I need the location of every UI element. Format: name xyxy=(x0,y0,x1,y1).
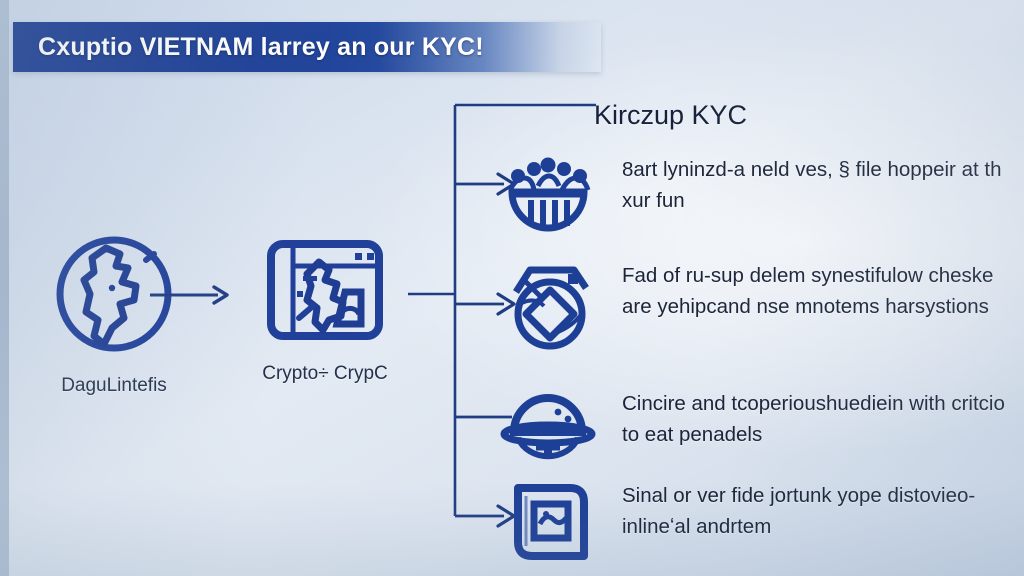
flow-node-country-label: DaguLintefis xyxy=(14,375,214,397)
globe-badge-diamond-icon xyxy=(496,258,600,354)
kyc-item-text: Cincire and tcoperioushuediein with crit… xyxy=(622,388,1020,450)
infographic-canvas: Cxuptio VIETNAM larrey an our KYC! DaguL… xyxy=(0,0,1024,576)
ringed-planet-icon xyxy=(496,386,600,482)
kyc-section-heading: Kirczup KYC xyxy=(594,100,747,131)
arrow-right-icon xyxy=(148,282,234,313)
kyc-item-text: Sinal or ver fide jortunk yope distovieo… xyxy=(622,480,1020,542)
kyc-item-text: 8art lyninzd-a neld ves, § file hoppeir … xyxy=(622,154,1020,216)
flow-node-platform-label: Crypto÷ CrypC xyxy=(228,363,422,385)
flow-node-platform: Crypto÷ CrypC xyxy=(228,236,422,385)
banner-title: Cxuptio VIETNAM larrey an our KYC! xyxy=(38,33,598,62)
kyc-item-text: Fad of ru-sup delem synestifulow cheske … xyxy=(622,260,1020,322)
left-edge-strip xyxy=(0,0,9,576)
document-chip-icon xyxy=(496,478,600,574)
crypto-browser-window-icon xyxy=(228,236,422,353)
flow-node-country: DaguLintefis xyxy=(14,232,214,397)
people-group-icon xyxy=(496,152,600,248)
